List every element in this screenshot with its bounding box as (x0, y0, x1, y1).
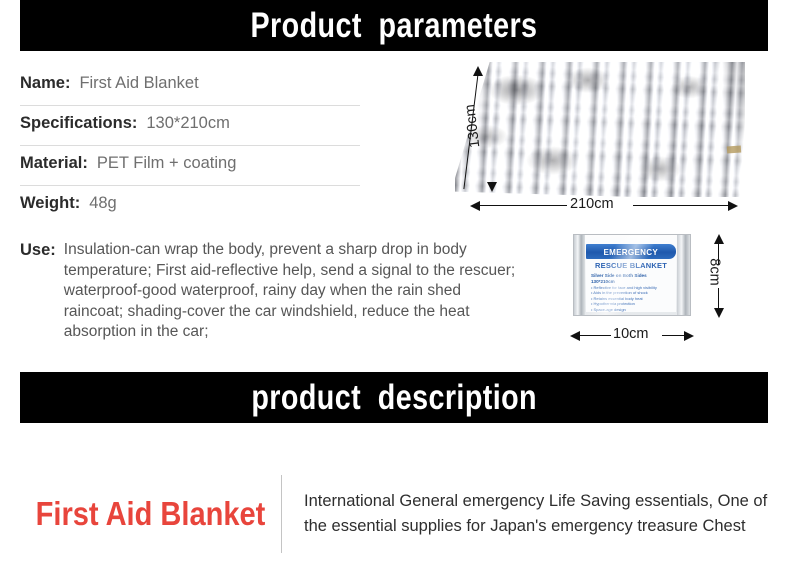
spec-label-name: Name: (20, 74, 70, 93)
arrow-up-icon (714, 234, 724, 244)
arrow-left-icon (570, 331, 580, 341)
dimension-label-210cm: 210cm (570, 196, 614, 212)
dimension-label-130cm: 130cm (462, 103, 483, 148)
package-banner: EMERGENCY (586, 244, 676, 259)
package-seal-right (677, 235, 690, 315)
arrow-right-icon (728, 201, 738, 211)
dimension-label-10cm: 10cm (613, 326, 648, 342)
package-subtitle: RESCUE BLANKET (586, 261, 676, 270)
use-description: Insulation-can wrap the body, prevent a … (64, 240, 520, 343)
dimension-line-left (479, 205, 567, 206)
spec-label-specifications: Specifications: (20, 114, 137, 133)
spec-value-material: PET Film + coating (97, 154, 237, 173)
dimension-line-bottom (718, 288, 719, 308)
dimension-height-130cm: 130cm (458, 66, 498, 194)
package-photo-figure: EMERGENCY RESCUE BLANKET Silver Side on … (573, 234, 691, 316)
package-label-face: EMERGENCY RESCUE BLANKET Silver Side on … (586, 238, 676, 312)
spec-label-weight: Weight: (20, 194, 80, 213)
arrow-down-icon (487, 182, 497, 192)
list-item: Space-age design (591, 307, 657, 312)
table-row: Name: First Aid Blanket (20, 66, 360, 106)
arrow-right-icon (684, 331, 694, 341)
section-banner-title: Product parameters (251, 6, 538, 46)
product-use-block: Use: Insulation-can wrap the body, preve… (20, 240, 520, 343)
section-banner-product-parameters: Product parameters (20, 0, 768, 51)
dimension-width-10cm: 10cm (570, 328, 694, 344)
dimension-line-right (662, 335, 684, 336)
spec-value-weight: 48g (89, 194, 117, 213)
package-feature-list: Reflective for face and high visibility … (591, 285, 657, 312)
blanket-photo-figure (455, 62, 745, 197)
section-banner-title: product description (251, 378, 537, 418)
use-label: Use: (20, 240, 56, 261)
dimension-height-8cm: 8cm (710, 234, 728, 318)
blanket-product-image (455, 62, 745, 197)
package-spec-text: Silver Side on Both Sides 130*210cm (591, 273, 647, 285)
spec-value-specifications: 130*210cm (146, 114, 229, 133)
vertical-divider (281, 475, 282, 553)
product-title-red: First Aid Blanket (36, 495, 266, 533)
spec-label-material: Material: (20, 154, 88, 173)
product-description-block: First Aid Blanket International General … (20, 466, 768, 561)
table-row: Specifications: 130*210cm (20, 106, 360, 146)
dimension-width-210cm: 210cm (470, 198, 738, 214)
dimension-line-right (633, 205, 728, 206)
package-product-image: EMERGENCY RESCUE BLANKET Silver Side on … (573, 234, 691, 316)
foil-highlight-overlay (455, 62, 745, 197)
arrow-left-icon (470, 201, 480, 211)
product-description-text: International General emergency Life Sav… (304, 489, 768, 539)
table-row: Weight: 48g (20, 186, 360, 226)
arrow-down-icon (714, 308, 724, 318)
spec-value-name: First Aid Blanket (79, 74, 198, 93)
dimension-label-8cm: 8cm (707, 258, 723, 285)
product-spec-table: Name: First Aid Blanket Specifications: … (20, 66, 360, 226)
package-seal-left (574, 235, 585, 315)
table-row: Material: PET Film + coating (20, 146, 360, 186)
arrow-up-icon (473, 66, 483, 76)
foil-corner-tab (727, 145, 741, 153)
dimension-line-left (579, 335, 611, 336)
package-banner-text: EMERGENCY (604, 247, 659, 257)
section-banner-product-description: product description (20, 372, 768, 423)
